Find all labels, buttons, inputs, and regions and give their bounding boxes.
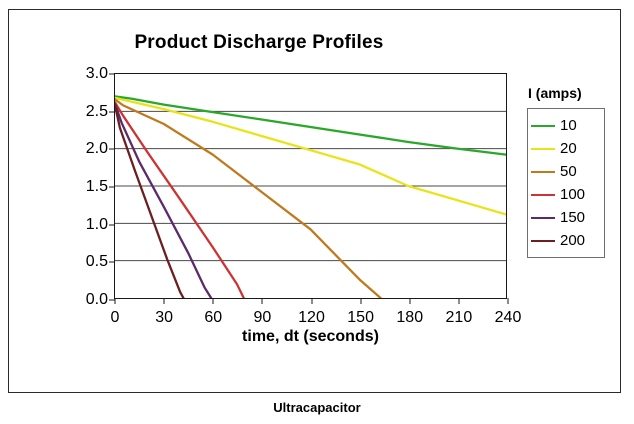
x-tick-mark: [409, 298, 410, 304]
x-tick-mark: [213, 298, 214, 304]
legend-swatch-icon: [531, 171, 555, 173]
series-line: [115, 96, 506, 154]
legend-item[interactable]: 50: [531, 160, 600, 183]
x-tick-mark: [164, 298, 165, 304]
y-tick-mark: [109, 74, 115, 75]
y-tick-label: 1.0: [68, 216, 108, 234]
y-tick-label: 0.0: [68, 291, 108, 309]
x-tick-label: 240: [495, 309, 522, 327]
legend-item[interactable]: 20: [531, 137, 600, 160]
y-tick-mark: [109, 224, 115, 225]
legend-swatch-icon: [531, 148, 555, 150]
legend-item[interactable]: 10: [531, 114, 600, 137]
y-tick-label: 2.0: [68, 140, 108, 158]
legend-swatch-icon: [531, 217, 555, 219]
x-tick-mark: [458, 298, 459, 304]
y-tick-mark: [109, 187, 115, 188]
legend-item-label: 100: [560, 187, 585, 202]
chart-container: Product Discharge Profiles Volts, V 0.00…: [8, 9, 621, 393]
x-tick-label: 60: [204, 309, 222, 327]
legend-item-label: 200: [560, 233, 585, 248]
series-line: [115, 99, 381, 298]
legend-item[interactable]: 200: [531, 229, 600, 252]
plot-area: 0.00.51.01.52.02.53.00306090120150180210…: [114, 73, 507, 299]
x-tick-label: 210: [446, 309, 473, 327]
screenshot-root: Product Discharge Profiles Volts, V 0.00…: [0, 0, 634, 424]
legend: 102050100150200: [527, 108, 605, 258]
chart-title: Product Discharge Profiles: [9, 32, 509, 54]
y-tick-label: 3.0: [68, 65, 108, 83]
legend-swatch-icon: [531, 194, 555, 196]
legend-item-label: 150: [560, 210, 585, 225]
x-tick-mark: [360, 298, 361, 304]
legend-item-label: 20: [560, 141, 577, 156]
x-tick-mark: [311, 298, 312, 304]
y-tick-label: 0.5: [68, 253, 108, 271]
legend-item[interactable]: 150: [531, 206, 600, 229]
x-tick-mark: [508, 298, 509, 304]
y-tick-mark: [109, 149, 115, 150]
legend-item[interactable]: 100: [531, 183, 600, 206]
series-line: [115, 102, 244, 298]
x-tick-label: 0: [111, 309, 120, 327]
series-line: [115, 98, 506, 214]
x-tick-mark: [115, 298, 116, 304]
y-tick-mark: [109, 262, 115, 263]
legend-swatch-icon: [531, 125, 555, 127]
y-tick-label: 2.5: [68, 103, 108, 121]
legend-item-label: 10: [560, 118, 577, 133]
legend-swatch-icon: [531, 240, 555, 242]
x-tick-label: 120: [298, 309, 325, 327]
legend-item-label: 50: [560, 164, 577, 179]
series-line: [115, 105, 183, 298]
series-line: [115, 104, 211, 298]
x-tick-label: 180: [396, 309, 423, 327]
x-axis-label: time, dt (seconds): [114, 328, 507, 346]
x-tick-label: 90: [253, 309, 271, 327]
figure-caption: Ultracapacitor: [0, 400, 634, 415]
y-tick-label: 1.5: [68, 178, 108, 196]
x-tick-label: 150: [347, 309, 374, 327]
legend-title: I (amps): [528, 85, 582, 101]
y-tick-mark: [109, 111, 115, 112]
x-tick-label: 30: [155, 309, 173, 327]
plot-lines: [115, 74, 506, 298]
x-tick-mark: [262, 298, 263, 304]
